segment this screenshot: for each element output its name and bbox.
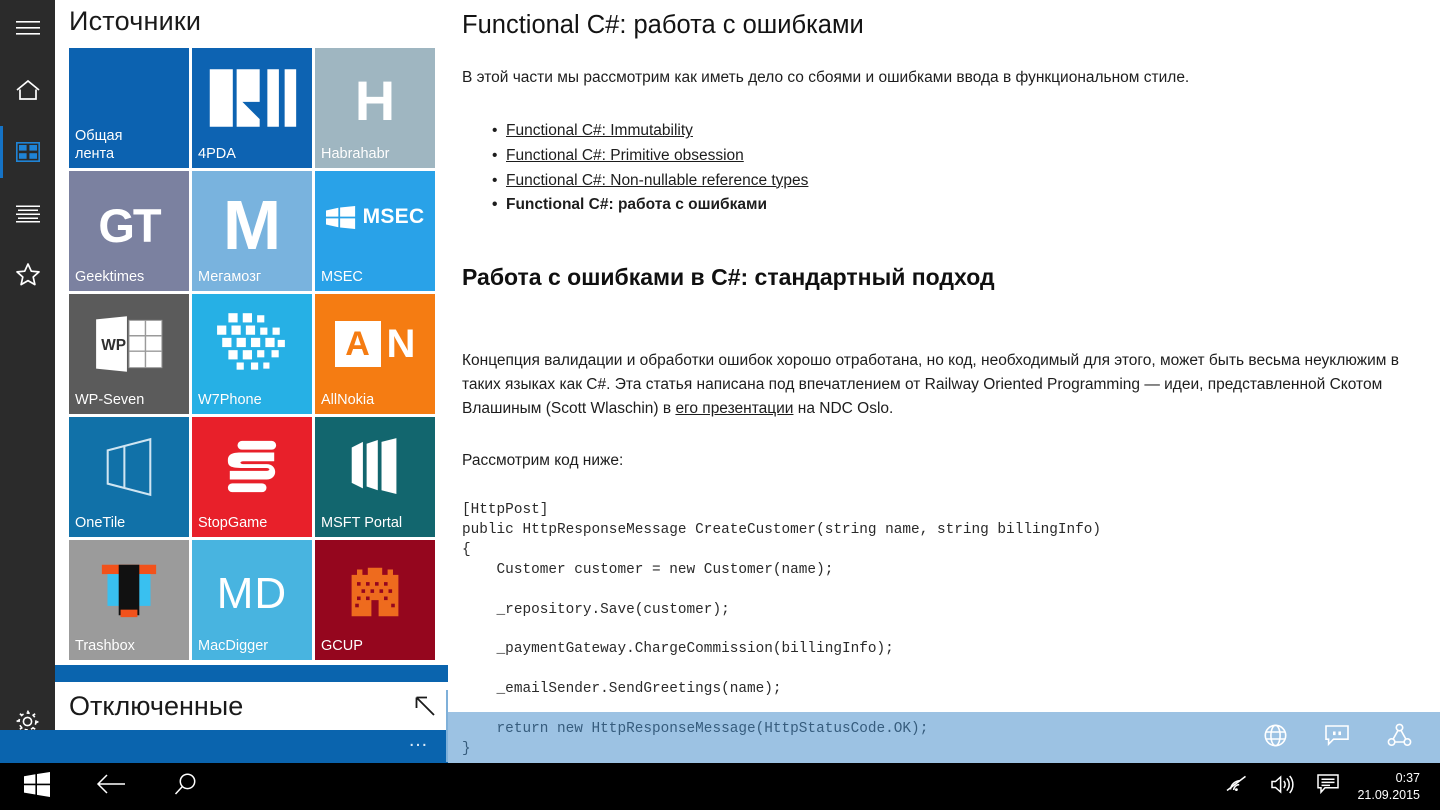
presentation-link[interactable]: его презентации [675,400,793,417]
source-tile-label: Trashbox [69,637,141,660]
source-tile[interactable]: MSECMSEC [315,171,435,291]
taskbar-left-buttons [0,763,222,810]
series-link[interactable]: Functional C#: Non-nullable reference ty… [506,172,808,189]
search-button[interactable] [148,763,222,810]
series-list-item: Functional C#: работа с ошибками [462,193,1418,218]
source-tile[interactable]: Общая лента [69,48,189,168]
sidebar-item-list[interactable] [0,190,55,238]
home-icon [15,79,41,101]
article-heading-2: Работа с ошибками в C#: стандартный подх… [462,264,1418,291]
source-tile[interactable]: HHabrahabr [315,48,435,168]
source-tile-label: 4PDA [192,145,242,168]
series-link[interactable]: Functional C#: Primitive obsession [506,147,744,164]
source-tile-label: Habrahabr [315,145,396,168]
group-divider-bar [55,665,448,682]
comment-icon [1324,724,1350,752]
source-tile[interactable]: StopGame [192,417,312,537]
source-tile-label: MacDigger [192,637,274,660]
star-icon [15,262,41,287]
article-series-list: Functional C#: ImmutabilityFunctional C#… [462,119,1418,218]
sources-pane: Источники Общая лента4PDAHHabrahabrGTGee… [55,0,448,763]
sidebar-item-tiles[interactable] [0,128,55,176]
article-lead: В этой части мы рассмотрим как иметь дел… [462,67,1418,89]
source-tile[interactable]: 4PDA [192,48,312,168]
source-tile-label: GCUP [315,637,369,660]
series-current-label: Functional C#: работа с ошибками [506,196,767,213]
source-tile-label: MSEC [315,268,369,291]
back-arrow-icon [96,773,126,800]
source-tile[interactable]: GTGeektimes [69,171,189,291]
share-icon [1387,723,1412,753]
comments-button[interactable] [1306,712,1368,763]
notification-icon [1316,773,1340,800]
paragraph-1-text-a: Концепция валидации и обработки ошибок х… [462,352,1399,417]
search-icon [173,772,198,802]
source-tile[interactable]: GCUP [315,540,435,660]
page-title: Источники [55,0,448,37]
start-button[interactable] [0,763,74,810]
clock-time: 0:37 [1357,770,1420,787]
list-icon [16,205,40,223]
windows-taskbar: 0:37 21.09.2015 [0,763,1440,810]
source-tile-label: Geektimes [69,268,150,291]
volume-button[interactable] [1259,763,1305,810]
source-tile-label: OneTile [69,514,131,537]
source-tile[interactable]: ANAllNokia [315,294,435,414]
series-link[interactable]: Functional C#: Immutability [506,122,693,139]
wifi-icon [1224,774,1248,799]
source-tile[interactable]: OneTile [69,417,189,537]
clock-date: 21.09.2015 [1357,787,1420,804]
series-list-item[interactable]: Functional C#: Immutability [462,119,1418,144]
source-tile[interactable]: MDMacDigger [192,540,312,660]
source-tile[interactable]: W7Phone [192,294,312,414]
windows-logo-icon [24,772,50,802]
series-list-item[interactable]: Functional C#: Non-nullable reference ty… [462,169,1418,194]
back-button[interactable] [74,763,148,810]
source-tile[interactable]: WPWP-Seven [69,294,189,414]
speaker-icon [1270,774,1295,800]
source-tile-label: Мегамозг [192,268,267,291]
sidebar-item-home[interactable] [0,66,55,114]
source-tile-label: WP-Seven [69,391,150,414]
tile-grid: Общая лента4PDAHHabrahabrGTGeektimesMМег… [69,48,435,660]
sidebar-item-favorites[interactable] [0,250,55,298]
article-title: Functional C#: работа с ошибками [462,10,1418,41]
navigation-rail [0,0,55,763]
share-button[interactable] [1368,712,1430,763]
network-button[interactable] [1213,763,1259,810]
paragraph-1-text-b: на NDC Oslo. [793,400,893,417]
hamburger-menu-button[interactable] [0,4,55,52]
app-window: Источники Общая лента4PDAHHabrahabrGTGee… [0,0,1440,810]
source-tile[interactable]: MSFT Portal [315,417,435,537]
svg-text:WP: WP [101,337,126,354]
system-tray: 0:37 21.09.2015 [1213,763,1440,810]
pane-app-bar: … [0,730,448,763]
article-paragraph-2: Рассмотрим код ниже: [462,449,1418,473]
collapsed-group-title: Отключенные [55,691,243,722]
mouse-cursor [414,695,440,728]
article-app-bar [448,712,1440,763]
source-tile-label: MSFT Portal [315,514,408,537]
article-pane: Functional C#: работа с ошибками В этой … [448,0,1440,763]
source-tile-label: AllNokia [315,391,380,414]
source-tile-label: W7Phone [192,391,268,414]
source-tile-label: Общая лента [69,127,128,168]
article-paragraph-1: Концепция валидации и обработки ошибок х… [462,349,1418,421]
hamburger-icon [16,20,40,36]
action-center-button[interactable] [1305,763,1351,810]
series-list-item[interactable]: Functional C#: Primitive obsession [462,144,1418,169]
globe-icon [1263,723,1288,753]
overflow-menu-button[interactable]: … [408,729,448,752]
source-tile[interactable]: MМегамозг [192,171,312,291]
tiles-icon [16,142,40,162]
open-in-browser-button[interactable] [1244,712,1306,763]
clock[interactable]: 0:37 21.09.2015 [1351,770,1432,804]
source-tile[interactable]: Trashbox [69,540,189,660]
collapsed-group-header[interactable]: Отключенные [55,682,448,730]
source-tile-label: StopGame [192,514,273,537]
